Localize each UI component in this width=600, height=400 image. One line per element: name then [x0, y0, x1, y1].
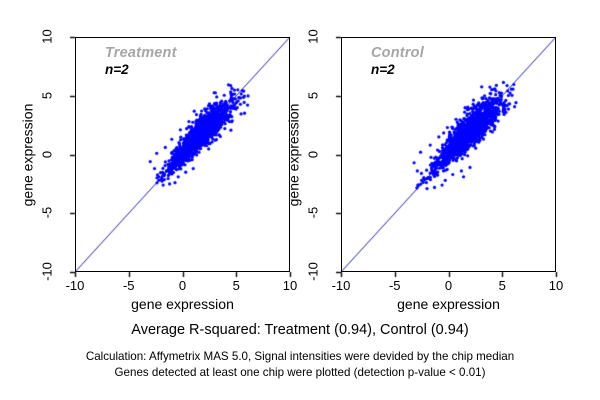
scatter-panel-control: Controln=2-10-50510-10-50510gene express…: [0, 0, 600, 400]
figure-root: Treatmentn=2-10-50510-10-50510gene expre…: [0, 0, 600, 400]
y-tick-label: -10: [306, 255, 321, 289]
caption-average-r-squared: Average R-squared: Treatment (0.94), Con…: [0, 322, 600, 338]
panel-title-control: Control: [371, 45, 424, 61]
y-tick-label: 5: [306, 78, 321, 112]
x-tick-label: 5: [482, 278, 522, 293]
x-tick-label: 10: [536, 278, 576, 293]
y-tick-label: -5: [306, 196, 321, 230]
caption-detection-filter: Genes detected at least one chip were pl…: [0, 366, 600, 379]
x-tick-label: -10: [321, 278, 361, 293]
caption-calculation-method: Calculation: Affymetrix MAS 5.0, Signal …: [0, 350, 600, 363]
y-tick-label: 10: [306, 20, 321, 54]
x-tick-label: 0: [429, 278, 469, 293]
panel-sample-size-control: n=2: [371, 62, 395, 77]
y-axis-title: gene expression: [285, 37, 301, 272]
x-tick-label: -5: [375, 278, 415, 293]
x-axis-title: gene expression: [341, 296, 556, 312]
y-tick-label: 0: [306, 137, 321, 171]
